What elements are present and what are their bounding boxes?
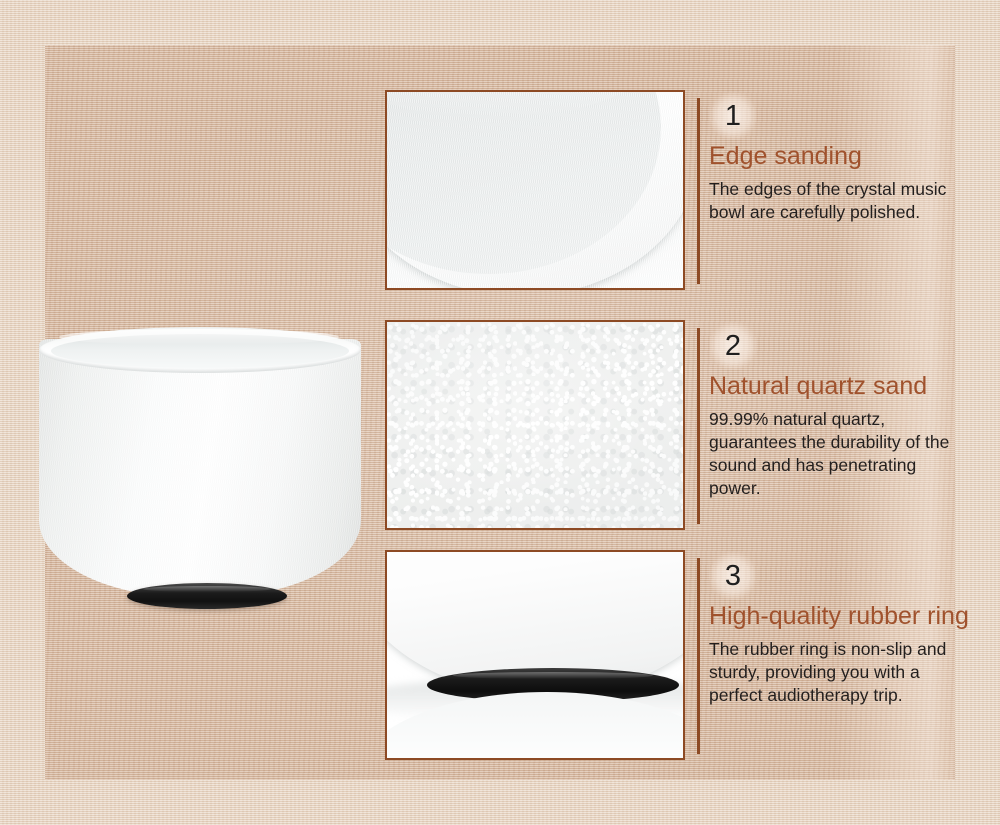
infographic-page: 1 Edge sanding The edges of the crystal … bbox=[0, 0, 1000, 825]
feature-title-1: Edge sanding bbox=[709, 142, 862, 171]
feature-description-1: The edges of the crystal music bowl are … bbox=[709, 178, 971, 224]
product-photo-crystal-bowl bbox=[25, 325, 375, 625]
bowl-base-highlight bbox=[143, 586, 271, 592]
feature-text-2: 2 Natural quartz sand 99.99% natural qua… bbox=[697, 320, 987, 530]
feature-photo-frame-1 bbox=[385, 90, 685, 290]
feature-title-3: High-quality rubber ring bbox=[709, 602, 969, 631]
feature-text-3: 3 High-quality rubber ring The rubber ri… bbox=[697, 550, 987, 760]
feature-number-badge-2: 2 bbox=[709, 322, 757, 370]
rubber-ring-highlight bbox=[453, 672, 653, 679]
accent-bar-2 bbox=[697, 328, 700, 524]
bowl-body bbox=[39, 339, 361, 597]
feature-number-badge-1: 1 bbox=[709, 92, 757, 140]
feature-text-1: 1 Edge sanding The edges of the crystal … bbox=[697, 90, 987, 290]
feature-photo-frame-3 bbox=[385, 550, 685, 760]
accent-bar-1 bbox=[697, 98, 700, 284]
feature-title-2: Natural quartz sand bbox=[709, 372, 927, 401]
rubber-ring-closeup-photo bbox=[387, 552, 683, 758]
feature-number-badge-3: 3 bbox=[709, 552, 757, 600]
feature-description-2: 99.99% natural quartz, guarantees the du… bbox=[709, 408, 971, 500]
quartz-sand-texture-photo bbox=[387, 322, 683, 528]
bowl-rim-highlight bbox=[59, 329, 339, 345]
accent-bar-3 bbox=[697, 558, 700, 754]
frosted-grain-overlay bbox=[387, 92, 683, 288]
feature-description-3: The rubber ring is non-slip and sturdy, … bbox=[709, 638, 971, 707]
bowl-rim-closeup-photo bbox=[387, 92, 683, 288]
feature-photo-frame-2 bbox=[385, 320, 685, 530]
